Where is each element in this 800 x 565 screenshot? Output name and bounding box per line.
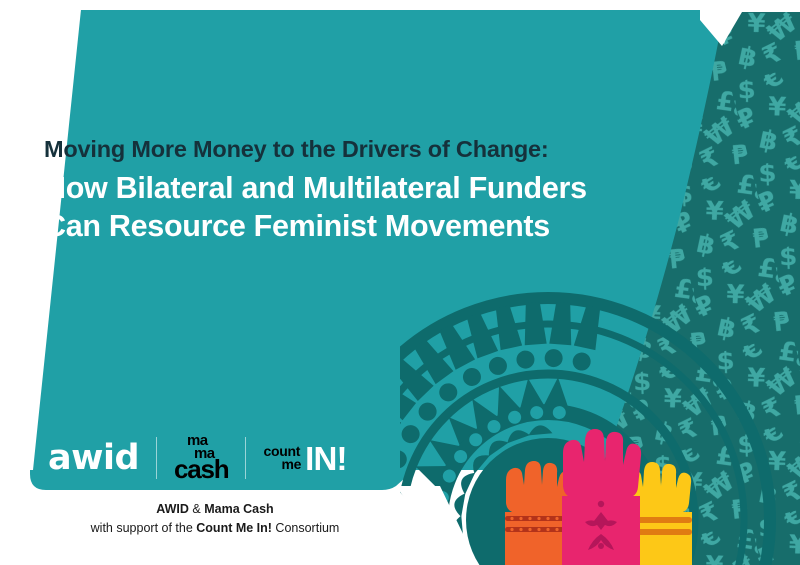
caption-line-1: AWID & Mama Cash [0,500,430,519]
count-me-in-small-text: count me [263,445,300,472]
caption-ampersand: & [189,502,204,516]
fist-center [562,429,641,565]
caption-line-2: with support of the Count Me In! Consort… [0,519,430,538]
awid-logo[interactable]: awid [48,441,139,476]
mama-cash-line-3: cash [174,459,228,481]
caption-mama-cash: Mama Cash [204,502,273,516]
count-me-in-word-me: me [281,458,301,471]
logo-bar: awid ma ma cash count me IN! [48,430,347,486]
mama-cash-logo[interactable]: ma ma cash [174,435,228,481]
count-me-in-logo[interactable]: count me IN! [263,442,346,475]
logo-divider-1 [156,437,157,479]
caption-count-me-in: Count Me In! [196,521,272,535]
logo-divider-2 [245,437,246,479]
count-me-in-word-in: IN! [305,442,347,475]
caption-awid: AWID [156,502,189,516]
caption-consortium-suffix: Consortium [272,521,339,535]
caption-support-prefix: with support of the [91,521,197,535]
cover-caption: AWID & Mama Cash with support of the Cou… [0,500,430,538]
